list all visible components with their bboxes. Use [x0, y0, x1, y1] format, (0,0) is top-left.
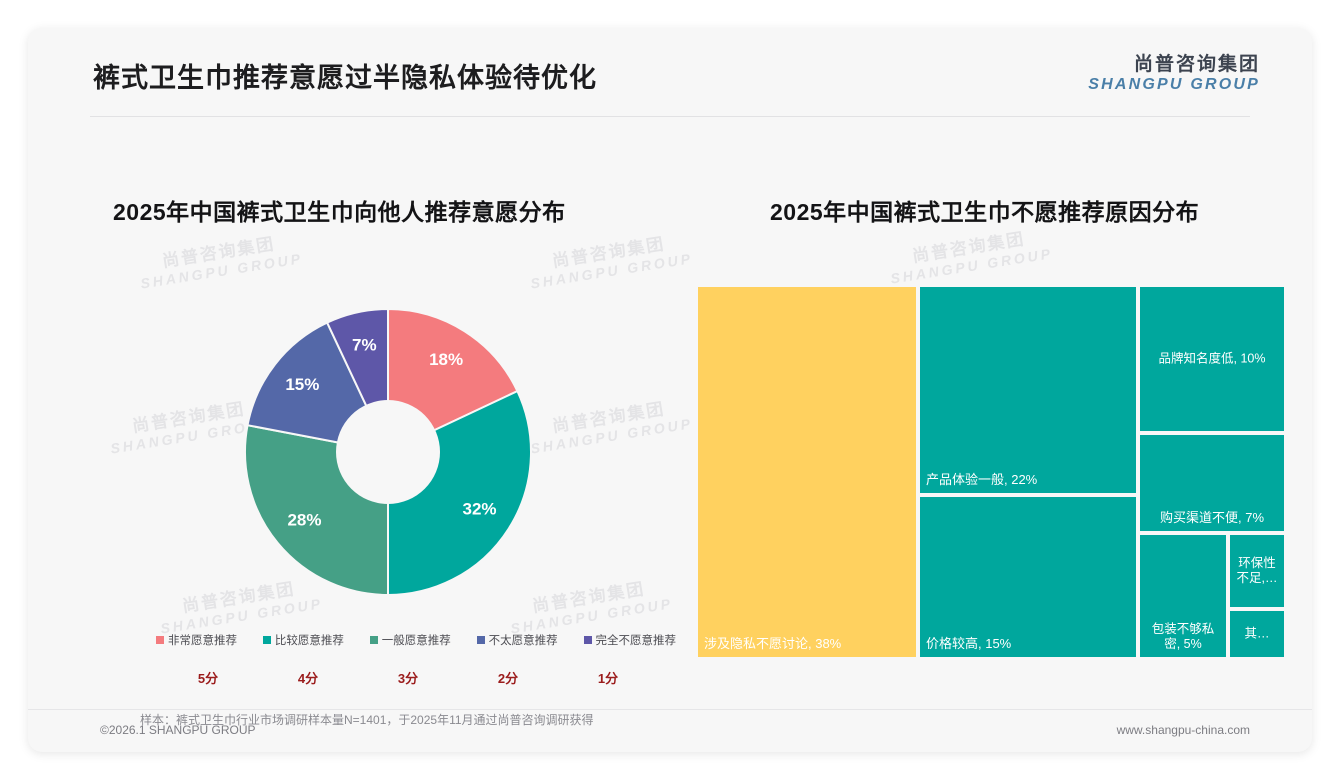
treemap-tile-label: 其…	[1230, 627, 1284, 642]
donut-legend: 非常愿意推荐比较愿意推荐一般愿意推荐不太愿意推荐完全不愿意推荐	[156, 632, 676, 648]
treemap-tile-label: 产品体验一般, 22%	[926, 472, 1132, 488]
legend-item[interactable]: 不太愿意推荐	[477, 632, 558, 648]
slide-header: 裤式卫生巾推荐意愿过半隐私体验待优化 尚普咨询集团 SHANGPU GROUP	[28, 28, 1312, 120]
treemap-tile-label: 价格较高, 15%	[926, 636, 1132, 652]
slide-footer: ©2026.1 SHANGPU GROUP www.shangpu-china.…	[28, 709, 1312, 752]
score-label: 4分	[278, 668, 338, 687]
legend-item[interactable]: 一般愿意推荐	[370, 632, 451, 648]
legend-swatch-icon	[370, 636, 378, 644]
watermark-cn: 尚普咨询集团	[136, 230, 301, 275]
score-label: 1分	[578, 668, 638, 687]
treemap-tile[interactable]: 购买渠道不便, 7%	[1138, 433, 1286, 533]
treemap-tile-label: 品牌知名度低, 10%	[1140, 352, 1284, 367]
legend-item[interactable]: 比较愿意推荐	[263, 632, 344, 648]
treemap-tile-label: 购买渠道不便, 7%	[1140, 510, 1284, 526]
recommendation-donut-chart: 18%32%28%15%7%	[203, 276, 573, 628]
score-label: 3分	[378, 668, 438, 687]
treemap-tile[interactable]: 产品体验一般, 22%	[918, 285, 1138, 495]
page-title: 裤式卫生巾推荐意愿过半隐私体验待优化	[93, 56, 597, 95]
donut-slice-label: 15%	[285, 375, 319, 394]
score-label: 5分	[178, 668, 238, 687]
legend-swatch-icon	[477, 636, 485, 644]
treemap-tile-label: 涉及隐私不愿讨论, 38%	[704, 636, 912, 652]
legend-swatch-icon	[263, 636, 271, 644]
legend-label: 一般愿意推荐	[382, 632, 451, 648]
legend-label: 非常愿意推荐	[168, 632, 237, 648]
donut-slice-label: 18%	[429, 350, 463, 369]
treemap-tile[interactable]: 价格较高, 15%	[918, 495, 1138, 659]
reasons-treemap-chart: 涉及隐私不愿讨论, 38%产品体验一般, 22%价格较高, 15%品牌知名度低,…	[696, 285, 1286, 659]
brand-logo: 尚普咨询集团 SHANGPU GROUP	[1088, 55, 1260, 94]
watermark-cn: 尚普咨询集团	[526, 230, 691, 275]
watermark-cn: 尚普咨询集团	[886, 225, 1051, 270]
score-label: 2分	[478, 668, 538, 687]
slide-canvas: 尚普咨询集团 SHANGPU GROUP 尚普咨询集团 SHANGPU GROU…	[28, 28, 1312, 752]
right-chart-title: 2025年中国裤式卫生巾不愿推荐原因分布	[770, 193, 1199, 227]
donut-slice-label: 28%	[287, 511, 321, 530]
watermark: 尚普咨询集团 SHANGPU GROUP	[886, 225, 1054, 287]
legend-swatch-icon	[156, 636, 164, 644]
legend-label: 比较愿意推荐	[275, 632, 344, 648]
legend-label: 不太愿意推荐	[489, 632, 558, 648]
legend-label: 完全不愿意推荐	[596, 632, 677, 648]
donut-svg: 18%32%28%15%7%	[203, 276, 573, 628]
score-scale-row: 5分4分3分2分1分	[178, 668, 638, 687]
donut-slice-label: 32%	[463, 500, 497, 519]
treemap-tile-label: 环保性不足,…	[1230, 556, 1284, 586]
watermark-en: SHANGPU GROUP	[889, 245, 1054, 287]
logo-english-text: SHANGPU GROUP	[1088, 76, 1260, 94]
donut-hole	[336, 400, 440, 504]
treemap-tile[interactable]: 涉及隐私不愿讨论, 38%	[696, 285, 918, 659]
treemap-tile-label: 包装不够私密, 5%	[1140, 622, 1226, 652]
left-chart-title: 2025年中国裤式卫生巾向他人推荐意愿分布	[113, 193, 566, 227]
treemap-tile[interactable]: 包装不够私密, 5%	[1138, 533, 1228, 659]
footer-website[interactable]: www.shangpu-china.com	[1117, 723, 1250, 737]
treemap-tile[interactable]: 品牌知名度低, 10%	[1138, 285, 1286, 433]
treemap-tile[interactable]: 环保性不足,…	[1228, 533, 1286, 609]
logo-chinese-text: 尚普咨询集团	[1088, 55, 1260, 76]
legend-item[interactable]: 完全不愿意推荐	[584, 632, 677, 648]
header-divider	[90, 116, 1250, 117]
legend-swatch-icon	[584, 636, 592, 644]
treemap-tile[interactable]: 其…	[1228, 609, 1286, 659]
legend-item[interactable]: 非常愿意推荐	[156, 632, 237, 648]
donut-slice-label: 7%	[352, 336, 377, 355]
footer-copyright: ©2026.1 SHANGPU GROUP	[100, 723, 256, 737]
